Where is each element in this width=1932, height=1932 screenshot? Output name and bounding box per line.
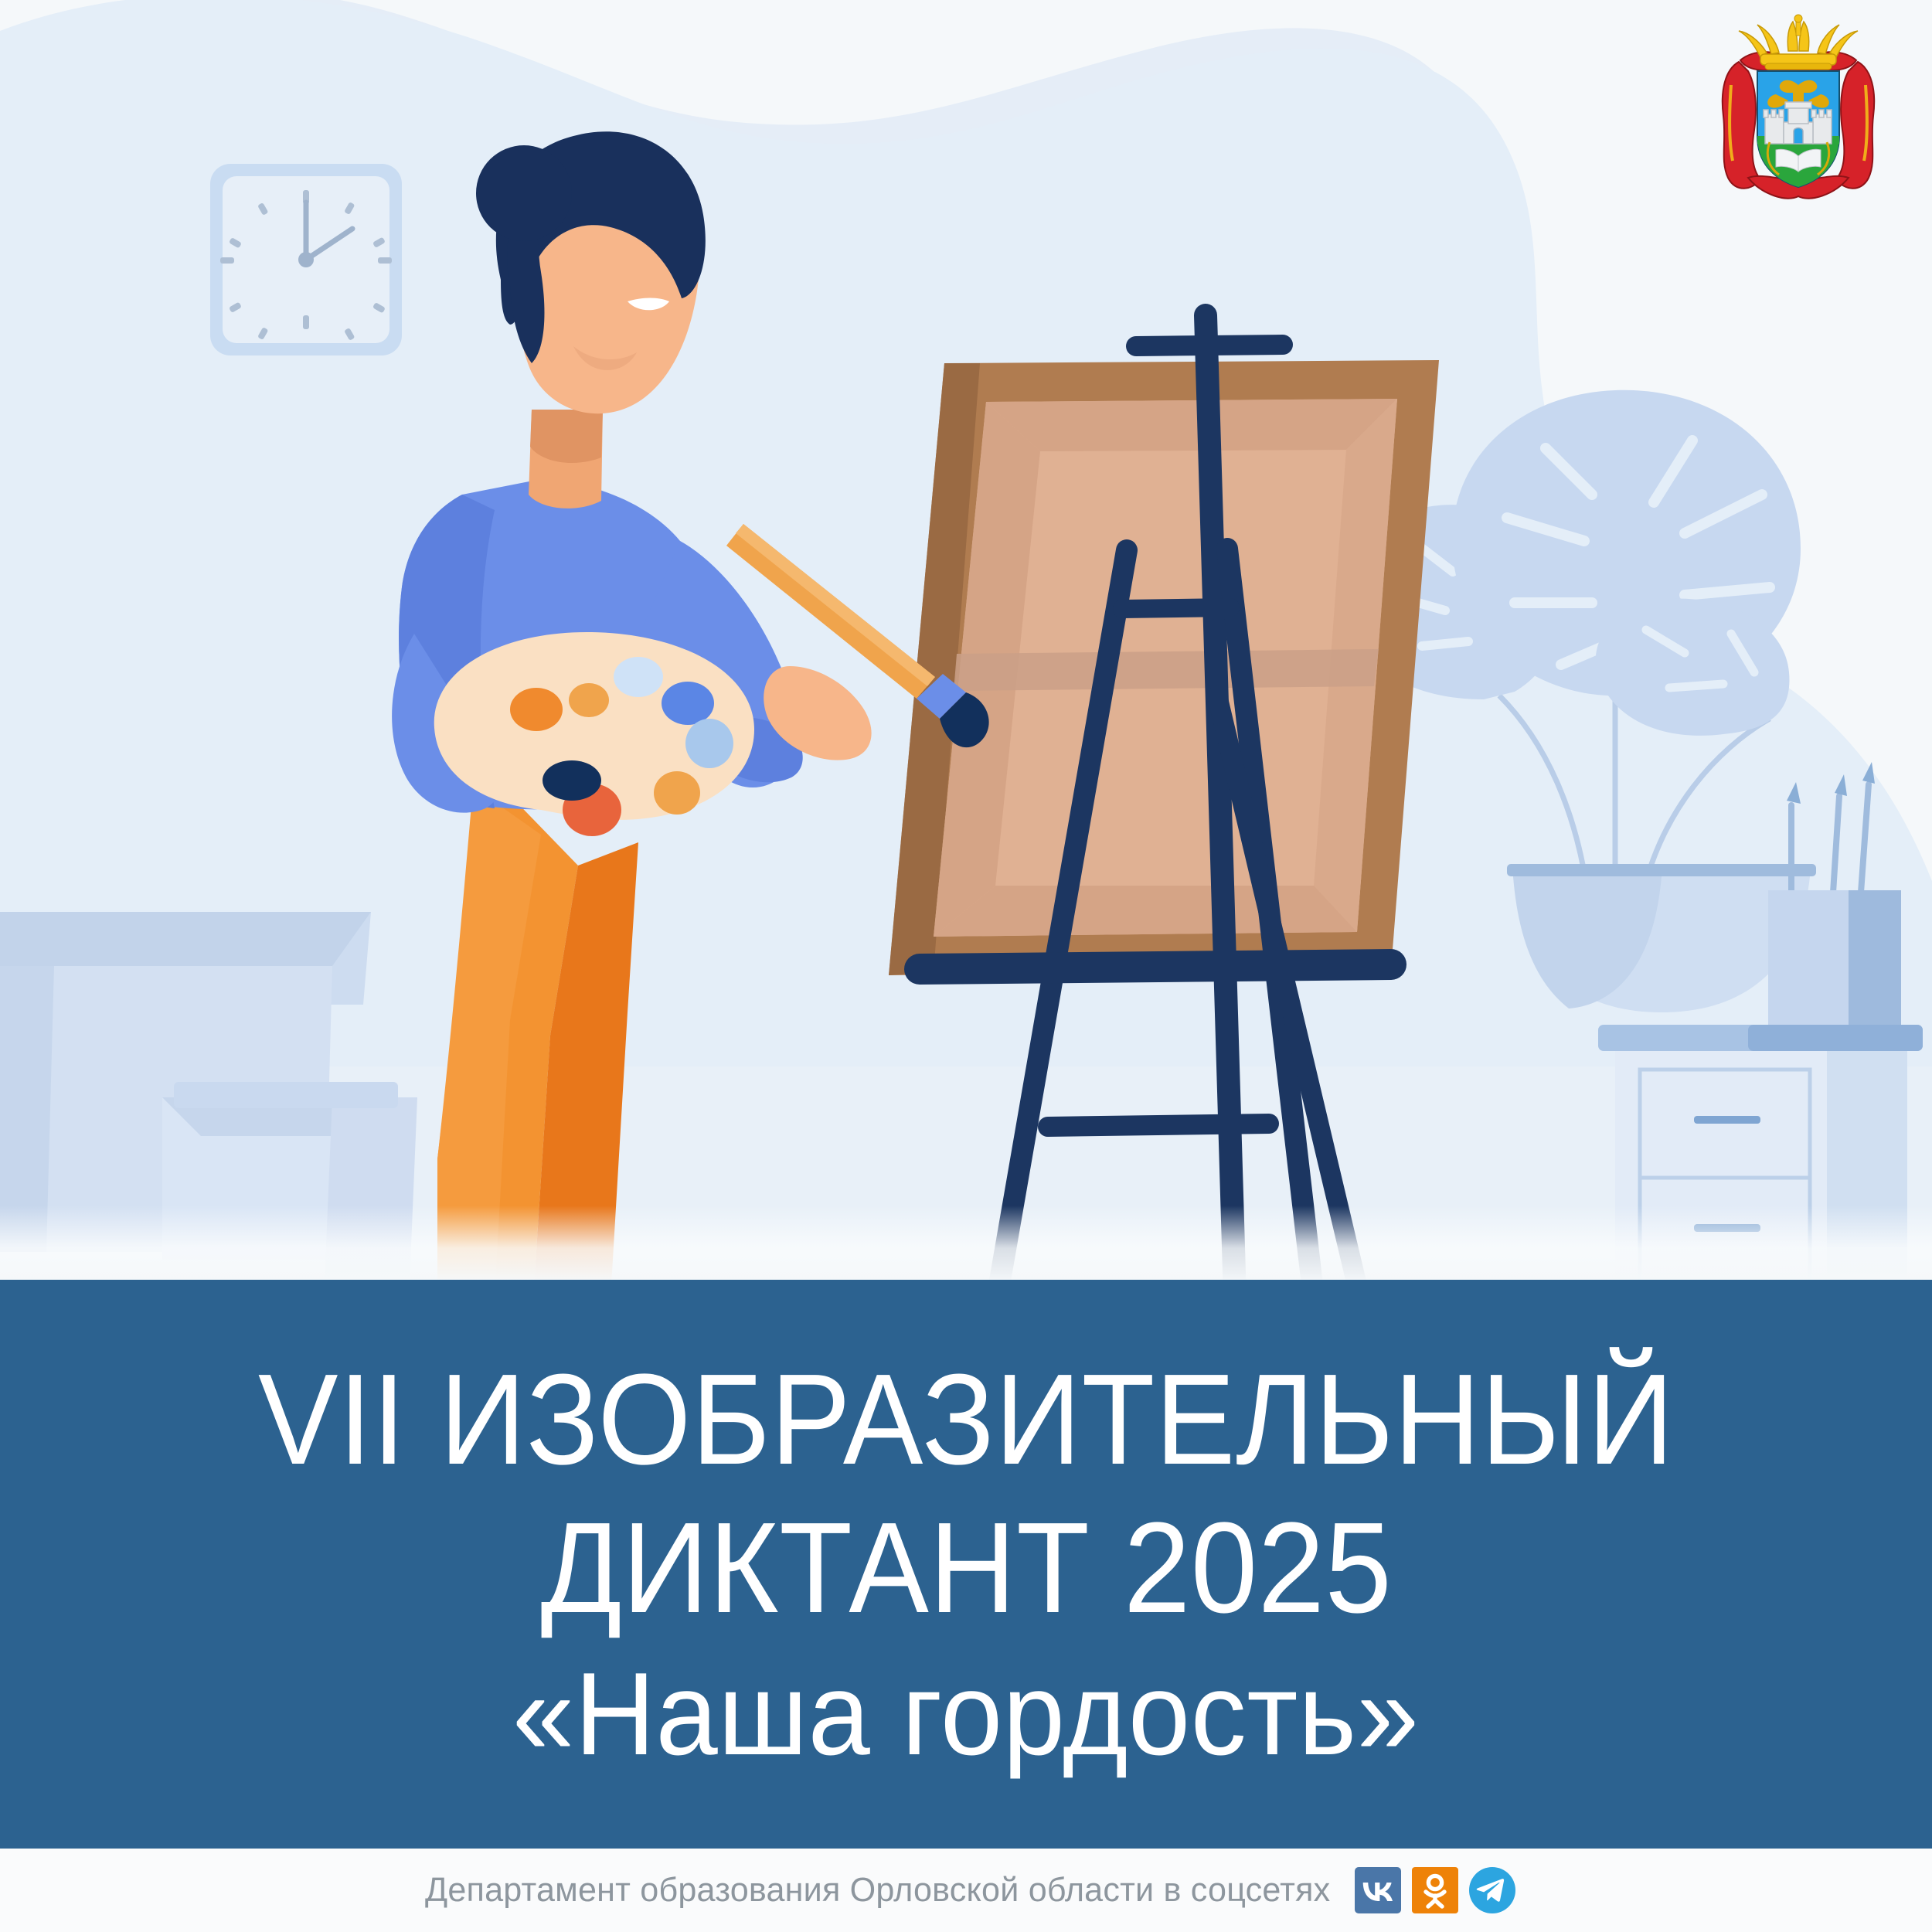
palette-dot-7: [569, 683, 609, 717]
title-banner: VII ИЗОБРАЗИТЕЛЬНЫЙ ДИКТАНТ 2025 «Наша г…: [0, 1280, 1932, 1849]
social-links: [1354, 1866, 1516, 1914]
palette-dot-2: [662, 682, 714, 725]
footer-bar: Департамент образования Орловской област…: [0, 1849, 1932, 1932]
oryol-oblast-coat-of-arms-icon: [1717, 14, 1879, 221]
title-line-3: «Наша гордость»: [512, 1655, 1420, 1774]
wall-clock: [210, 164, 402, 355]
studio-illustration: [0, 0, 1932, 1298]
title-line-2: ДИКТАНТ 2025: [540, 1502, 1392, 1634]
drawer-cabinet: [1598, 1025, 1923, 1298]
palette-dot-6: [543, 760, 601, 801]
footer-text: Департамент образования Орловской област…: [425, 1871, 1330, 1910]
poster-root: VII ИЗОБРАЗИТЕЛЬНЫЙ ДИКТАНТ 2025 «Наша г…: [0, 0, 1932, 1932]
ok-icon[interactable]: [1411, 1866, 1459, 1914]
vk-icon[interactable]: [1354, 1866, 1402, 1914]
palette-dot-4: [654, 771, 700, 815]
telegram-icon[interactable]: [1468, 1866, 1516, 1914]
canvas-on-easel: [889, 360, 1439, 975]
palette-dot-3: [685, 719, 733, 768]
studio-furniture-left: [0, 912, 417, 1283]
title-line-1: VII ИЗОБРАЗИТЕЛЬНЫЙ: [258, 1354, 1674, 1485]
palette-dot-1: [614, 657, 663, 697]
